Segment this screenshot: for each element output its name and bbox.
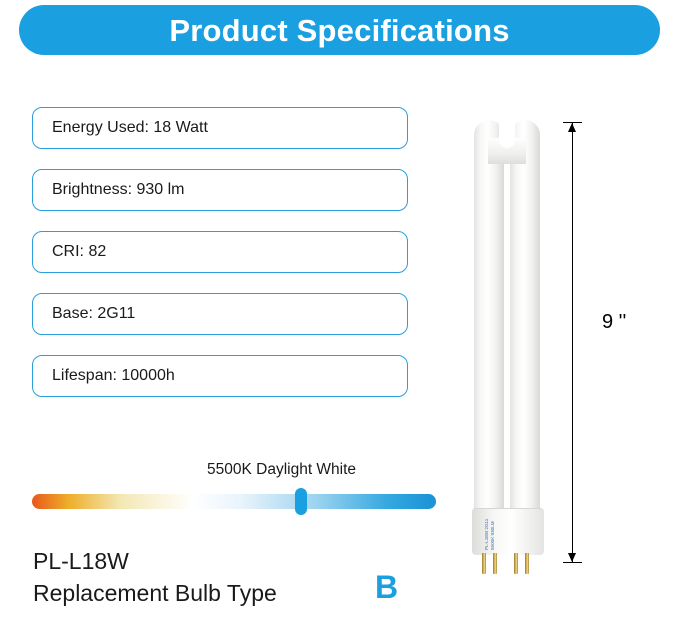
- bulb-base-text-line2: 5500K 930LM: [490, 516, 496, 550]
- list-item: CRI: 82: [32, 231, 408, 273]
- spec-label-lifespan: Lifespan: 10000h: [52, 367, 175, 385]
- specification-list: Energy Used: 18 Watt Brightness: 930 lm …: [32, 107, 408, 417]
- bulb-pin: [493, 553, 497, 574]
- bulb-base: [472, 508, 544, 555]
- spec-label-base: Base: 2G11: [52, 305, 135, 323]
- list-item: Brightness: 930 lm: [32, 169, 408, 211]
- list-item: Lifespan: 10000h: [32, 355, 408, 397]
- bulb-pin: [514, 553, 518, 574]
- page-title: Product Specifications: [169, 15, 509, 46]
- dimension-cap-bottom: [563, 562, 582, 563]
- list-item: Base: 2G11: [32, 293, 408, 335]
- dimension-arrow-up-icon: [568, 123, 576, 132]
- bulb-pin: [482, 553, 486, 574]
- dimension-line: [572, 122, 573, 562]
- product-subtitle: Replacement Bulb Type: [33, 580, 277, 607]
- list-item: Energy Used: 18 Watt: [32, 107, 408, 149]
- bulb-illustration: PL-L18W 2G11 5500K 930LM: [452, 110, 582, 590]
- color-temperature-slider-thumb: [295, 488, 307, 515]
- spec-label-cri: CRI: 82: [52, 243, 106, 261]
- color-temperature-slider-track: [32, 494, 436, 509]
- color-temperature-label: 5500K Daylight White: [207, 461, 356, 479]
- header-banner: Product Specifications: [19, 5, 660, 55]
- bulb-tube-right: [510, 120, 540, 550]
- bulb-bridge-notch: [499, 122, 515, 148]
- spec-label-energy: Energy Used: 18 Watt: [52, 119, 208, 137]
- spec-label-brightness: Brightness: 930 lm: [52, 181, 185, 199]
- dimension-label: 9 '': [602, 311, 626, 334]
- bulb-tube-left: [474, 120, 504, 550]
- product-model: PL-L18W: [33, 548, 129, 575]
- product-type-letter: B: [375, 571, 398, 603]
- bulb-pin: [525, 553, 529, 574]
- dimension-arrow-down-icon: [568, 553, 576, 562]
